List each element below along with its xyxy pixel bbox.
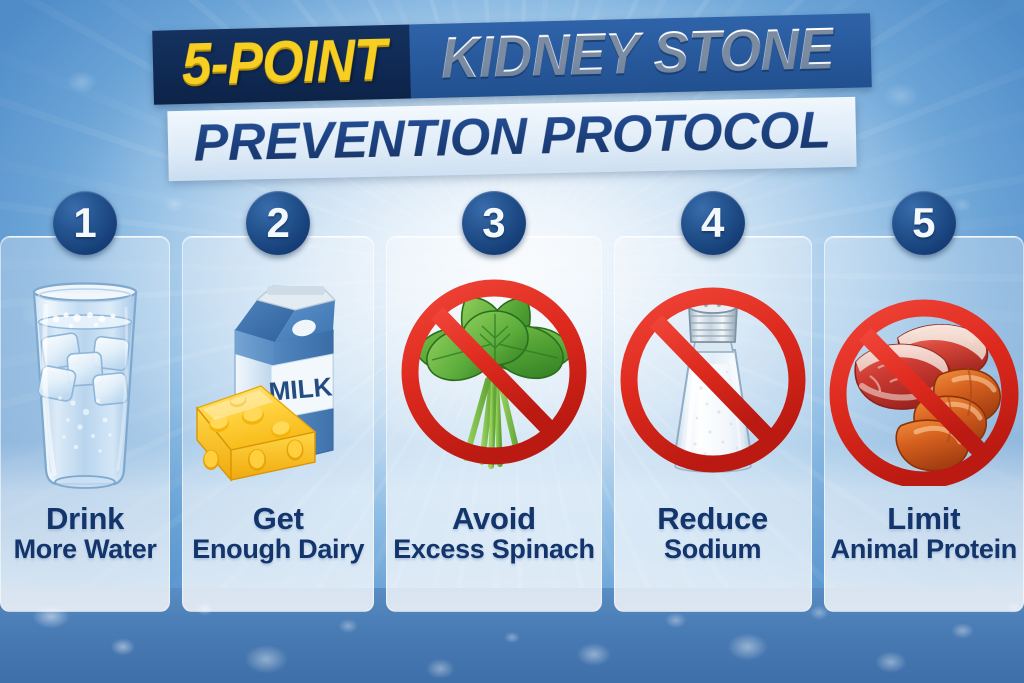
step-badge-3: 3 [462,191,526,255]
tip-label-line2: Animal Protein [831,535,1017,564]
step-badge-4: 4 [681,191,745,255]
tip-label-line1: Drink [14,503,157,535]
tip-label-4: Reduce Sodium [651,503,774,564]
tip-card-get-enough-dairy[interactable]: 2 [182,236,374,612]
tip-label-line2: Excess Spinach [393,535,594,564]
tip-label-line1: Limit [831,503,1017,535]
title-band-light: PREVENTION PROTOCOL [167,97,857,181]
tip-label-2: Get Enough Dairy [186,503,370,564]
tip-card-limit-animal-protein[interactable]: 5 [824,236,1024,612]
title-part-5-point: 5-POINT [181,31,386,94]
step-number-3: 3 [482,202,505,244]
tip-label-line2: More Water [14,535,157,564]
title-part-kidney-stone: KIDNEY STONE [441,20,835,88]
step-badge-5: 5 [892,191,956,255]
tip-label-line1: Avoid [393,503,594,535]
step-badge-1: 1 [53,191,117,255]
meat-sausage-icon [825,265,1023,497]
tip-label-line1: Reduce [657,503,768,535]
title-line-1: 5-POINT KIDNEY STONE [0,10,1024,109]
title-line-2: PREVENTION PROTOCOL [0,93,1024,184]
step-number-5: 5 [912,202,935,244]
tip-card-drink-more-water[interactable]: 1 [0,236,170,612]
water-glass-icon [1,265,169,497]
tip-card-reduce-sodium[interactable]: 4 [614,236,812,612]
title-part-prevention-protocol: PREVENTION PROTOCOL [193,101,831,172]
step-number-1: 1 [73,202,96,244]
title-band-dark: 5-POINT [152,24,412,104]
step-number-2: 2 [267,202,290,244]
tip-label-1: Drink More Water [8,503,163,564]
step-badge-2: 2 [246,191,310,255]
step-number-4: 4 [701,202,724,244]
tip-label-line1: Get [192,503,364,535]
salt-shaker-icon [615,265,811,497]
tip-label-line2: Sodium [657,535,768,564]
tips-card-row: 1 [0,236,1024,612]
tip-card-avoid-excess-spinach[interactable]: 3 [386,236,601,612]
spinach-icon [387,265,600,497]
tip-label-3: Avoid Excess Spinach [387,503,600,564]
title-band-blue: KIDNEY STONE [410,13,873,98]
milk-carton-cheese-icon: MILK [183,265,373,497]
tip-label-5: Limit Animal Protein [825,503,1023,564]
tip-label-line2: Enough Dairy [192,535,364,564]
poster-title: 5-POINT KIDNEY STONE PREVENTION PROTOCOL [0,22,1024,174]
infographic-poster: 5-POINT KIDNEY STONE PREVENTION PROTOCOL… [0,0,1024,683]
